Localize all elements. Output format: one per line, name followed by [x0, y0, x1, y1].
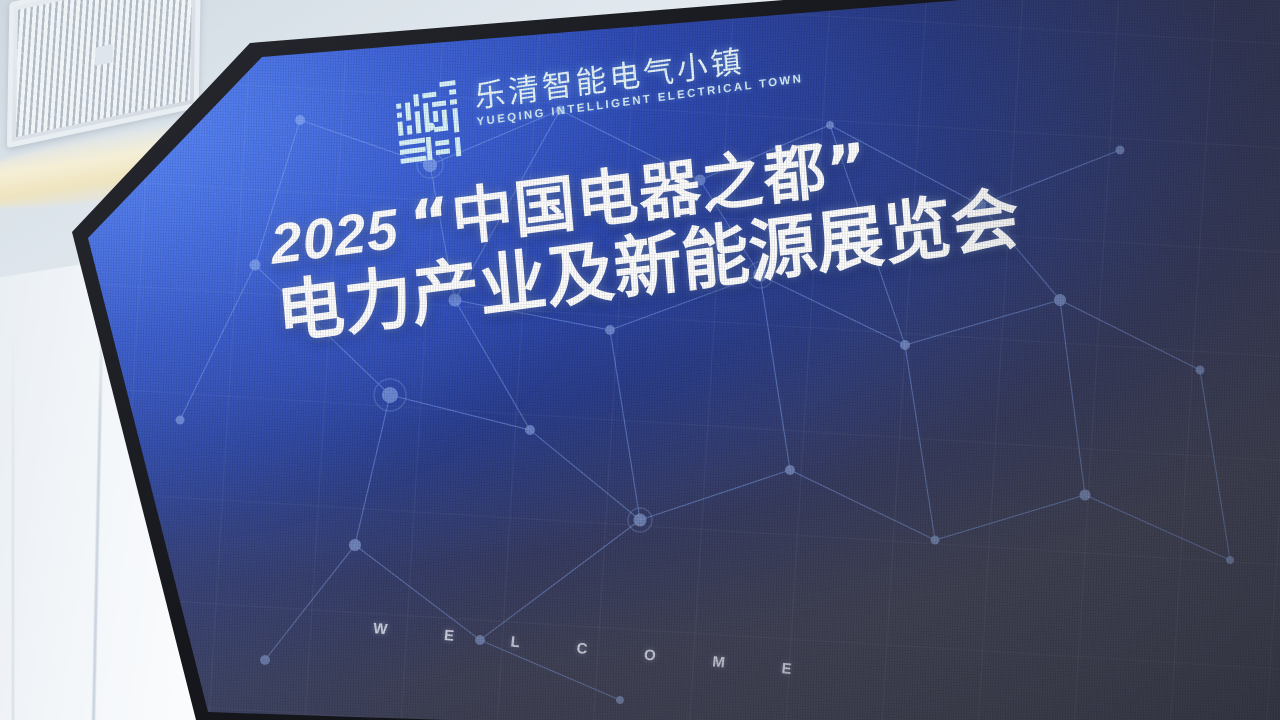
screenshot-root: 乐清智能电气小镇 YUEQING INTELLIGENT ELECTRICAL … — [0, 0, 1280, 720]
vent-center-plate — [95, 44, 113, 66]
wall-panel-seam-secondary — [12, 330, 14, 720]
